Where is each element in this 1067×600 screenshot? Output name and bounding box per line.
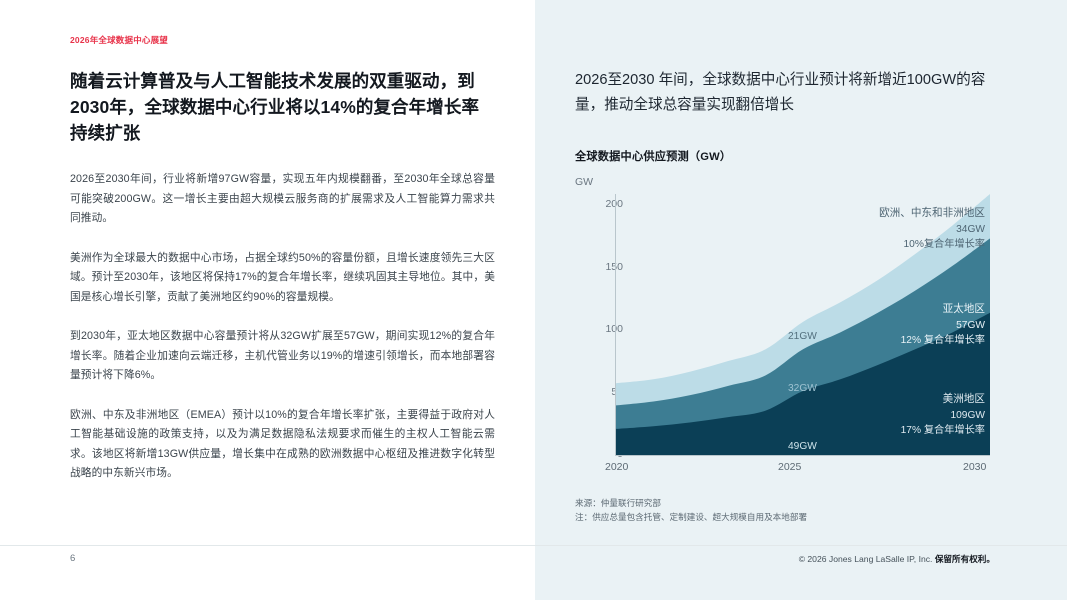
annotation-americas-value: 109GW [901,408,985,424]
supply-forecast-chart: GW 200 150 100 50 0 21GW 32GW 49GW 欧洲、中东… [575,176,995,486]
annotation-apac-region: 亚太地区 [901,302,985,318]
page-title: 随着云计算普及与人工智能技术发展的双重驱动，到2030年，全球数据中心行业将以1… [70,68,495,146]
annotation-americas-cagr: 17% 复合年增长率 [901,423,985,439]
x-axis-tick-2020: 2020 [605,461,628,473]
page-root: 2026年全球数据中心展望 随着云计算普及与人工智能技术发展的双重驱动，到203… [0,0,1067,600]
body-paragraph-4: 欧洲、中东及非洲地区（EMEA）预计以10%的复合年增长率扩张，主要得益于政府对… [70,406,495,484]
annotation-emea-value: 34GW [879,222,985,238]
chart-panel-headline: 2026至2030 年间，全球数据中心行业预计将新增近100GW的容量，推动全球… [575,68,995,118]
page-number: 6 [70,553,75,564]
copyright-text: © 2026 Jones Lang LaSalle IP, Inc. [799,554,935,564]
annotation-apac-value: 57GW [901,318,985,334]
x-axis-line [615,455,990,456]
annotation-apac-cagr: 12% 复合年增长率 [901,333,985,349]
chart-source: 来源：仲量联行研究部 [575,496,807,510]
chart-notes: 来源：仲量联行研究部 注：供应总量包含托管、定制建设、超大规模自用及本地部署 [575,496,807,524]
body-paragraph-3: 到2030年，亚太地区数据中心容量预计将从32GW扩展至57GW，期间实现12%… [70,327,495,386]
chart-title: 全球数据中心供应预测（GW） [575,148,731,164]
y-axis-unit-label: GW [575,176,593,188]
annotation-emea: 欧洲、中东和非洲地区 34GW 10%复合年增长率 [879,206,985,253]
annotation-americas: 美洲地区 109GW 17% 复合年增长率 [901,392,985,439]
copyright-rights: 保留所有权利。 [935,554,995,564]
body-paragraph-2: 美洲作为全球最大的数据中心市场，占据全球约50%的容量份额，且增长速度领先三大区… [70,249,495,308]
chart-note: 注：供应总量包含托管、定制建设、超大规模自用及本地部署 [575,510,807,524]
body-paragraph-1: 2026至2030年间，行业将新增97GW容量，实现五年内规模翻番，至2030年… [70,170,495,229]
annotation-apac: 亚太地区 57GW 12% 复合年增长率 [901,302,985,349]
footer-divider [0,545,1067,546]
annotation-emea-region: 欧洲、中东和非洲地区 [879,206,985,222]
x-axis-tick-2025: 2025 [778,461,801,473]
annotation-americas-region: 美洲地区 [901,392,985,408]
copyright-notice: © 2026 Jones Lang LaSalle IP, Inc. 保留所有权… [799,553,995,565]
left-column: 2026年全球数据中心展望 随着云计算普及与人工智能技术发展的双重驱动，到203… [70,34,495,484]
x-axis-tick-2030: 2030 [963,461,986,473]
annotation-emea-cagr: 10%复合年增长率 [879,237,985,253]
eyebrow-label: 2026年全球数据中心展望 [70,34,495,46]
